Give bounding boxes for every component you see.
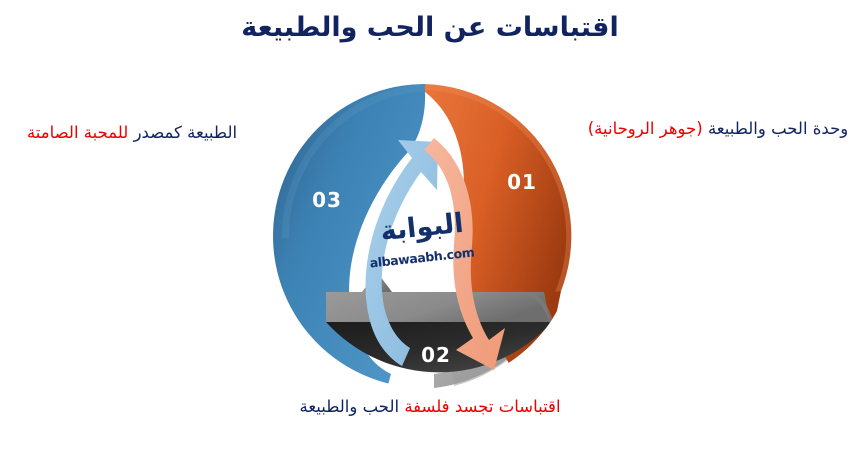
segment-03-number: 03: [312, 188, 342, 212]
segment-01-label: وحدة الحب والطبيعة (جوهر الروحانية): [584, 118, 852, 140]
segment-01-number: 01: [507, 170, 537, 194]
cycle-diagram: 01 02 03: [258, 78, 592, 398]
segment-03-label-navy: الطبيعة كمصدر: [134, 123, 238, 142]
segment-01-label-red: (جوهر الروحانية): [588, 119, 703, 138]
segment-02-number: 02: [421, 343, 451, 367]
segment-03-label: الطبيعة كمصدر للمحبة الصامتة: [8, 122, 256, 144]
segment-02-label: اقتباسات تجسد فلسفة الحب والطبيعة: [0, 396, 860, 417]
page-title: اقتباسات عن الحب والطبيعة: [0, 12, 860, 44]
segment-03-label-red: للمحبة الصامتة: [27, 123, 128, 142]
segment-01-label-navy: وحدة الحب والطبيعة: [708, 119, 848, 138]
segment-02-label-navy: الحب والطبيعة: [299, 397, 399, 416]
infographic-page: اقتباسات عن الحب والطبيعة وحدة الحب والط…: [0, 0, 860, 458]
segment-02-label-red: اقتباسات تجسد فلسفة: [404, 397, 560, 416]
